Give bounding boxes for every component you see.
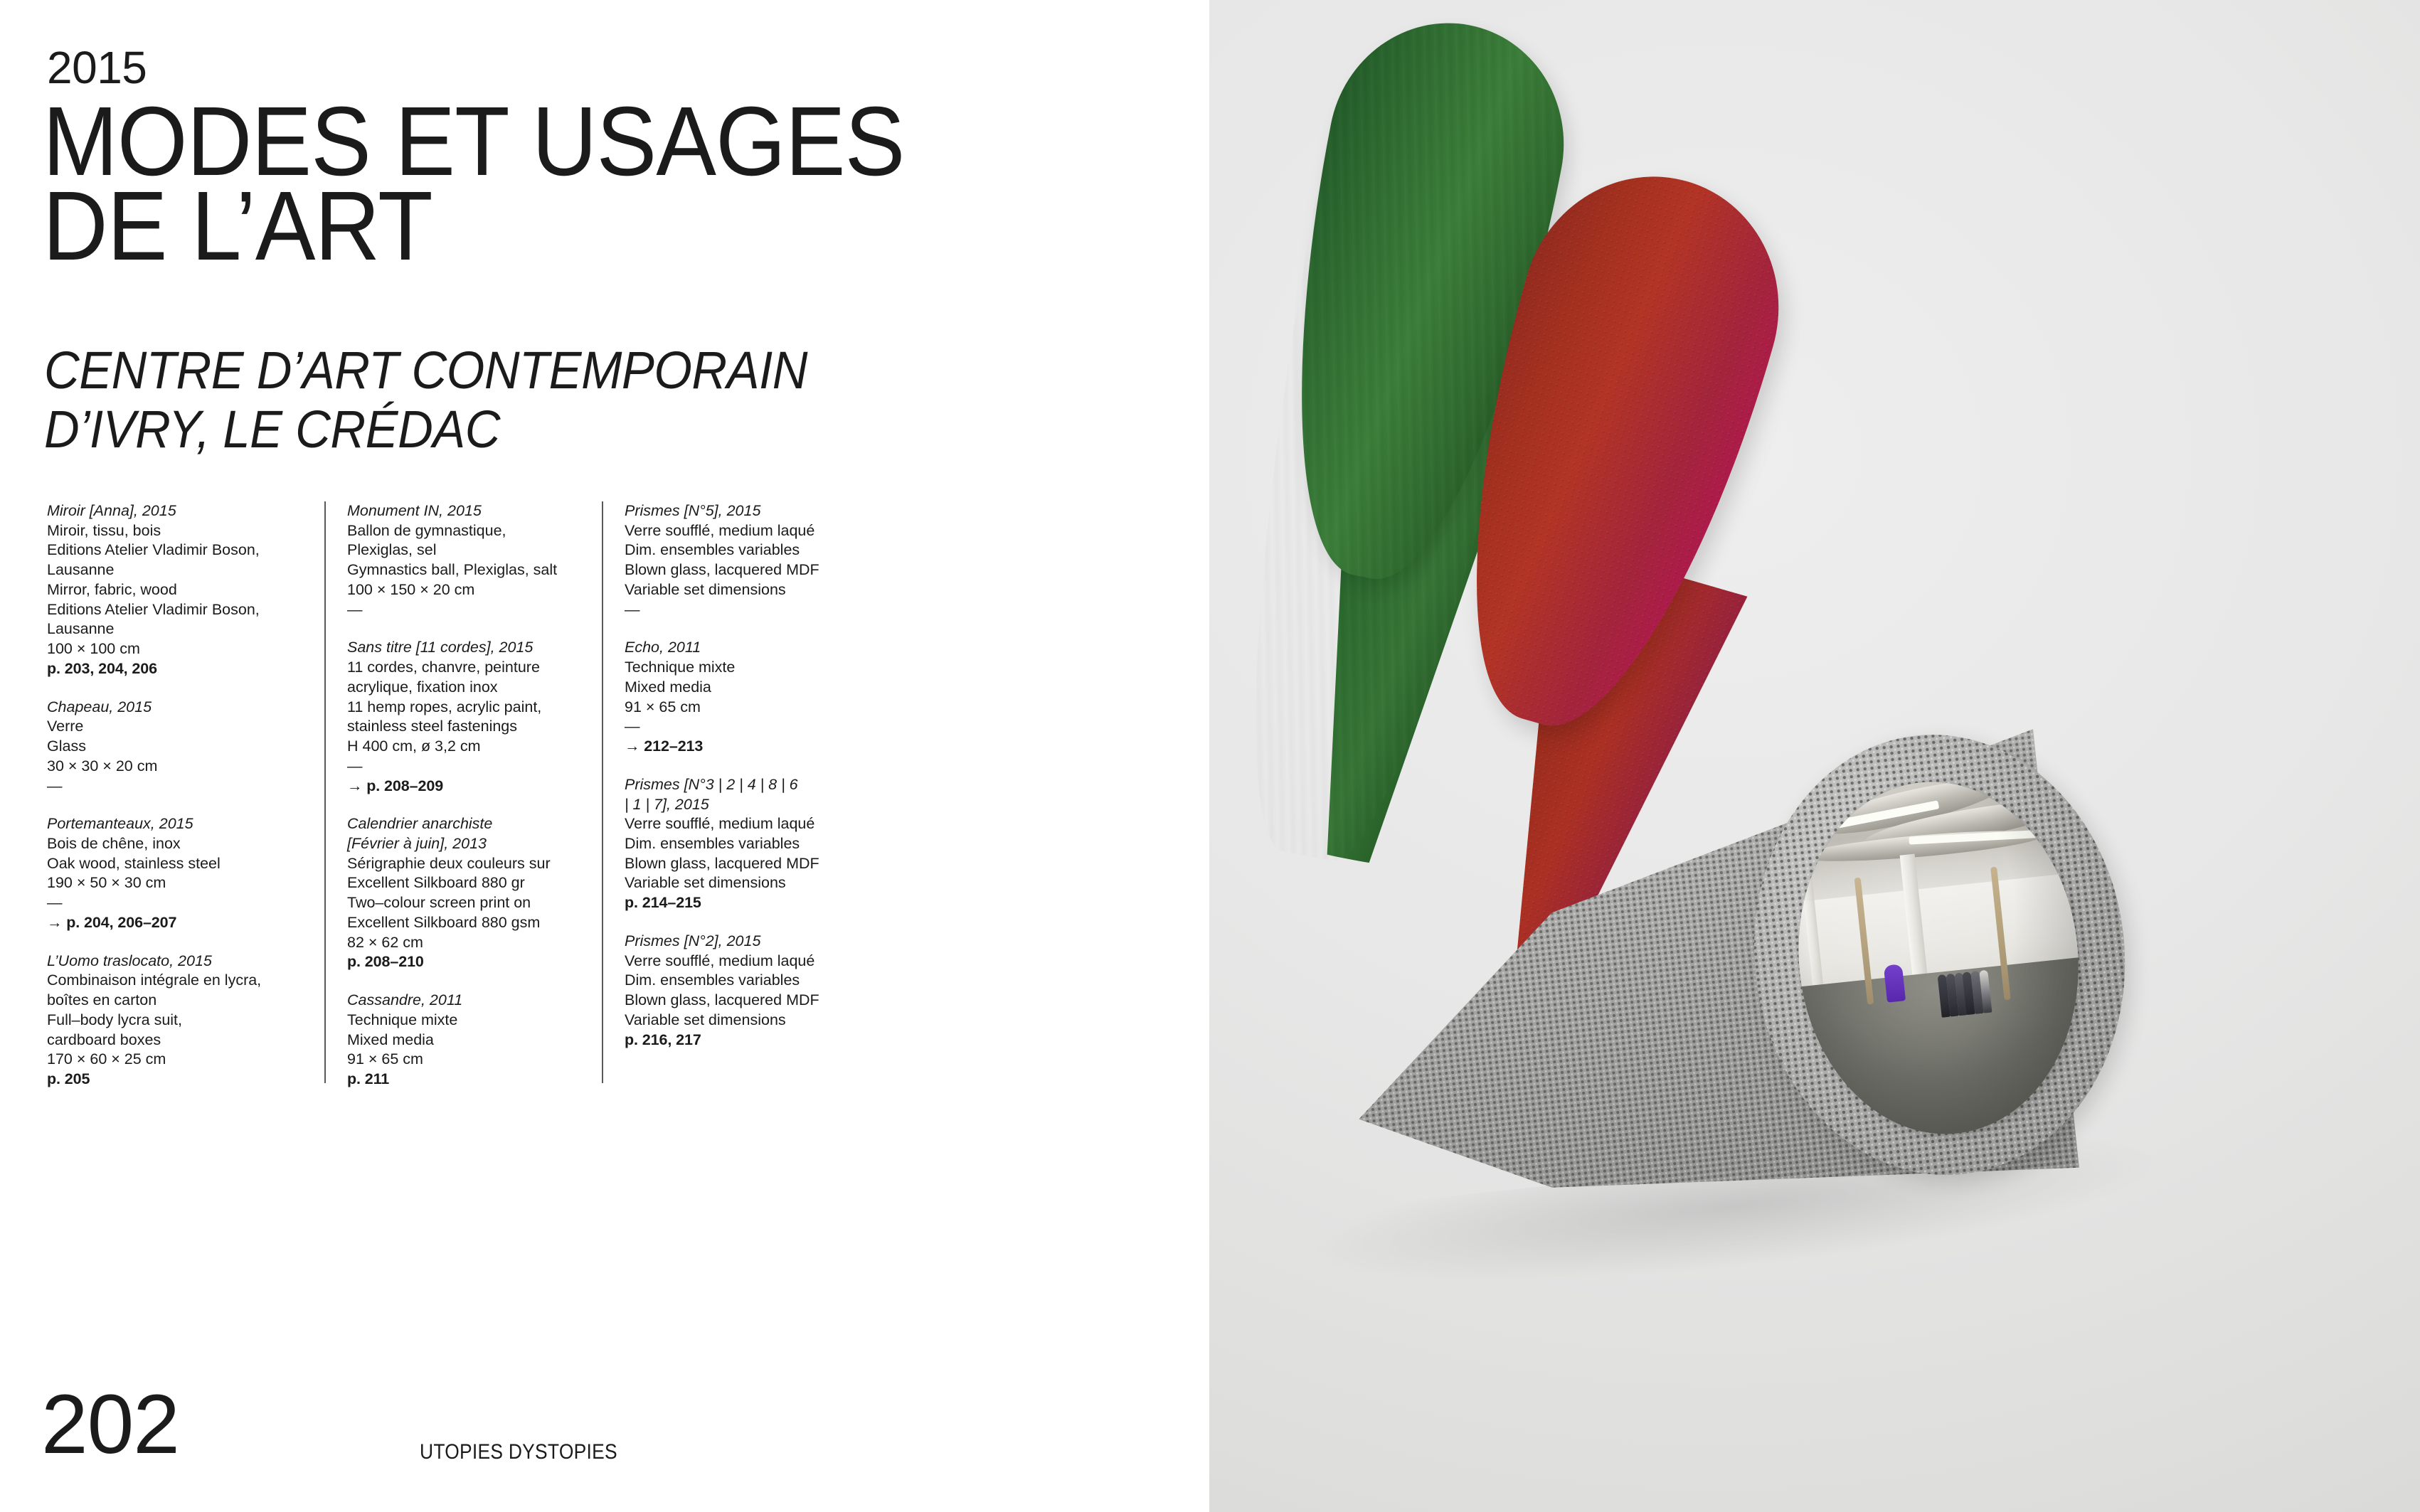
caption-entry: Monument IN, 2015Ballon de gymnastique,P… <box>347 501 582 619</box>
caption-column-3: Prismes [N°5], 2015Verre soufflé, medium… <box>602 501 879 1092</box>
artwork-detail: Mixed media <box>347 1031 582 1050</box>
entry-gap <box>347 619 582 638</box>
caption-column-1: Miroir [Anna], 2015Miroir, tissu, boisEd… <box>47 501 324 1092</box>
artwork-title: Prismes [N°5], 2015 <box>625 501 859 521</box>
page-reference[interactable]: p. 214–215 <box>625 893 859 913</box>
page-reference[interactable]: → p. 204, 206–207 <box>47 913 304 933</box>
caption-entry: Sans titre [11 cordes], 201511 cordes, c… <box>347 638 582 796</box>
entry-gap <box>625 913 859 932</box>
entry-separator-dash: — <box>625 717 859 737</box>
column-divider <box>324 501 326 1083</box>
artwork-detail: Two–colour screen print on <box>347 893 582 913</box>
entry-separator-dash: — <box>347 600 582 620</box>
artwork-detail: Verre soufflé, medium laqué <box>625 952 859 971</box>
artwork-detail: Mixed media <box>625 678 859 698</box>
artwork-detail: cardboard boxes <box>47 1031 304 1050</box>
artwork-title: Miroir [Anna], 2015 <box>47 501 304 521</box>
entry-gap <box>625 619 859 638</box>
artwork-detail: Technique mixte <box>625 658 859 678</box>
artwork-title: Portemanteaux, 2015 <box>47 814 304 834</box>
artwork-detail: Combinaison intégrale en lycra, <box>47 971 304 991</box>
catalogue-spread: 2015 MODES ET USAGES DE L’ART CENTRE D’A… <box>0 0 2420 1512</box>
artwork-detail: Blown glass, lacquered MDF <box>625 854 859 874</box>
artwork-detail: Verre soufflé, medium laqué <box>625 814 859 834</box>
artwork-detail: Dim. ensembles variables <box>625 541 859 560</box>
artwork-detail: 11 hemp ropes, acrylic paint, <box>347 698 582 718</box>
folio-number: 202 <box>41 1383 179 1466</box>
artwork-detail: Plexiglas, sel <box>347 541 582 560</box>
artwork-detail: Glass <box>47 737 304 757</box>
artwork-detail: 30 × 30 × 20 cm <box>47 757 304 777</box>
entry-separator-dash: — <box>47 777 304 797</box>
artwork-title: Prismes [N°2], 2015 <box>625 932 859 952</box>
page-reference[interactable]: p. 203, 204, 206 <box>47 659 304 679</box>
caption-entry: Prismes [N°3 | 2 | 4 | 8 | 6| 1 | 7], 20… <box>625 775 859 913</box>
artwork-detail: Full–body lycra suit, <box>47 1011 304 1031</box>
artwork-detail: acrylique, fixation inox <box>347 678 582 698</box>
subtitle-line-2: D’IVRY, LE CRÉDAC <box>44 400 1076 459</box>
title-line-2: DE L’ART <box>43 184 1063 269</box>
artwork-detail: Editions Atelier Vladimir Boson, <box>47 541 304 560</box>
mirror-blue-figure <box>1883 964 1905 1002</box>
text-page: 2015 MODES ET USAGES DE L’ART CENTRE D’A… <box>0 0 1209 1512</box>
artwork-detail: Blown glass, lacquered MDF <box>625 991 859 1011</box>
entry-gap <box>347 972 582 991</box>
artwork-title: [Février à juin], 2013 <box>347 834 582 854</box>
artwork-detail: Dim. ensembles variables <box>625 834 859 854</box>
artwork-title: Cassandre, 2011 <box>347 991 582 1011</box>
caption-entry: Miroir [Anna], 2015Miroir, tissu, boisEd… <box>47 501 304 679</box>
artwork-detail: 100 × 150 × 20 cm <box>347 580 582 600</box>
artwork-title: Sans titre [11 cordes], 2015 <box>347 638 582 658</box>
artwork-detail: Verre soufflé, medium laqué <box>625 521 859 541</box>
entry-gap <box>47 679 304 698</box>
artwork-detail: 91 × 65 cm <box>625 698 859 718</box>
artwork-detail: Mirror, fabric, wood <box>47 580 304 600</box>
page-reference[interactable]: p. 211 <box>347 1070 582 1090</box>
artwork-detail: 82 × 62 cm <box>347 933 582 953</box>
artwork-detail: 100 × 100 cm <box>47 639 304 659</box>
artwork-photo <box>1209 0 2420 1512</box>
artwork-detail: H 400 cm, ø 3,2 cm <box>347 737 582 757</box>
artwork-detail: Dim. ensembles variables <box>625 971 859 991</box>
artwork-title: | 1 | 7], 2015 <box>625 795 859 815</box>
page-reference[interactable]: → p. 208–209 <box>347 777 582 797</box>
entry-separator-dash: — <box>347 757 582 777</box>
caption-entry: Echo, 2011Technique mixteMixed media91 ×… <box>625 638 859 756</box>
artwork-detail: 170 × 60 × 25 cm <box>47 1050 304 1070</box>
artwork-detail: Variable set dimensions <box>625 873 859 893</box>
artwork-detail: 11 cordes, chanvre, peinture <box>347 658 582 678</box>
artwork-detail: Verre <box>47 717 304 737</box>
page-reference[interactable]: p. 216, 217 <box>625 1031 859 1050</box>
artwork-detail: Blown glass, lacquered MDF <box>625 560 859 580</box>
artwork-title: Monument IN, 2015 <box>347 501 582 521</box>
caption-entry: Chapeau, 2015VerreGlass30 × 30 × 20 cm— <box>47 698 304 797</box>
page-reference[interactable]: p. 205 <box>47 1070 304 1090</box>
caption-entry: Calendrier anarchiste[Février à juin], 2… <box>347 814 582 972</box>
entry-separator-dash: — <box>625 600 859 620</box>
artwork-detail: Oak wood, stainless steel <box>47 854 304 874</box>
artwork-title: Echo, 2011 <box>625 638 859 658</box>
artwork-detail: Ballon de gymnastique, <box>347 521 582 541</box>
artwork-detail: Excellent Silkboard 880 gr <box>347 873 582 893</box>
artwork-detail: Miroir, tissu, bois <box>47 521 304 541</box>
entry-gap <box>47 796 304 814</box>
running-head: UTOPIES DYSTOPIES <box>420 1440 617 1464</box>
artwork-detail: Lausanne <box>47 560 304 580</box>
artwork-detail: Sérigraphie deux couleurs sur <box>347 854 582 874</box>
caption-columns: Miroir [Anna], 2015Miroir, tissu, boisEd… <box>47 501 993 1092</box>
artwork-detail: Variable set dimensions <box>625 1011 859 1031</box>
page-subtitle: CENTRE D’ART CONTEMPORAIN D’IVRY, LE CRÉ… <box>44 341 1154 459</box>
artwork-detail: Editions Atelier Vladimir Boson, <box>47 600 304 620</box>
caption-column-2: Monument IN, 2015Ballon de gymnastique,P… <box>324 501 602 1092</box>
artwork-detail: Lausanne <box>47 619 304 639</box>
page-reference[interactable]: → 212–213 <box>625 737 859 757</box>
caption-entry: Cassandre, 2011Technique mixteMixed medi… <box>347 991 582 1090</box>
perforated-cone <box>1326 717 2192 1242</box>
artwork-title: Prismes [N°3 | 2 | 4 | 8 | 6 <box>625 775 859 795</box>
artwork-detail: Technique mixte <box>347 1011 582 1031</box>
artwork-detail: Bois de chêne, inox <box>47 834 304 854</box>
artwork-detail: Excellent Silkboard 880 gsm <box>347 913 582 933</box>
artwork-title: Calendrier anarchiste <box>347 814 582 834</box>
column-divider <box>602 501 603 1083</box>
artwork-detail: boîtes en carton <box>47 991 304 1011</box>
entry-gap <box>625 757 859 775</box>
artwork-detail: Variable set dimensions <box>625 580 859 600</box>
artwork-title: L’Uomo traslocato, 2015 <box>47 952 304 971</box>
artwork-detail: 91 × 65 cm <box>347 1050 582 1070</box>
caption-entry: Portemanteaux, 2015Bois de chêne, inoxOa… <box>47 814 304 932</box>
artwork-detail: stainless steel fastenings <box>347 717 582 737</box>
year-label: 2015 <box>47 41 147 94</box>
artwork-detail: Gymnastics ball, Plexiglas, salt <box>347 560 582 580</box>
caption-entry: Prismes [N°5], 2015Verre soufflé, medium… <box>625 501 859 619</box>
entry-gap <box>347 796 582 814</box>
artwork-title: Chapeau, 2015 <box>47 698 304 718</box>
caption-entry: L’Uomo traslocato, 2015Combinaison intég… <box>47 952 304 1090</box>
page-title: MODES ET USAGES DE L’ART <box>43 100 1152 268</box>
entry-separator-dash: — <box>47 893 304 913</box>
page-reference[interactable]: p. 208–210 <box>347 952 582 972</box>
caption-entry: Prismes [N°2], 2015Verre soufflé, medium… <box>625 932 859 1050</box>
convex-mirror <box>1781 768 2096 1148</box>
subtitle-line-1: CENTRE D’ART CONTEMPORAIN <box>44 341 1076 400</box>
entry-gap <box>47 933 304 952</box>
artwork-detail: 190 × 50 × 30 cm <box>47 873 304 893</box>
